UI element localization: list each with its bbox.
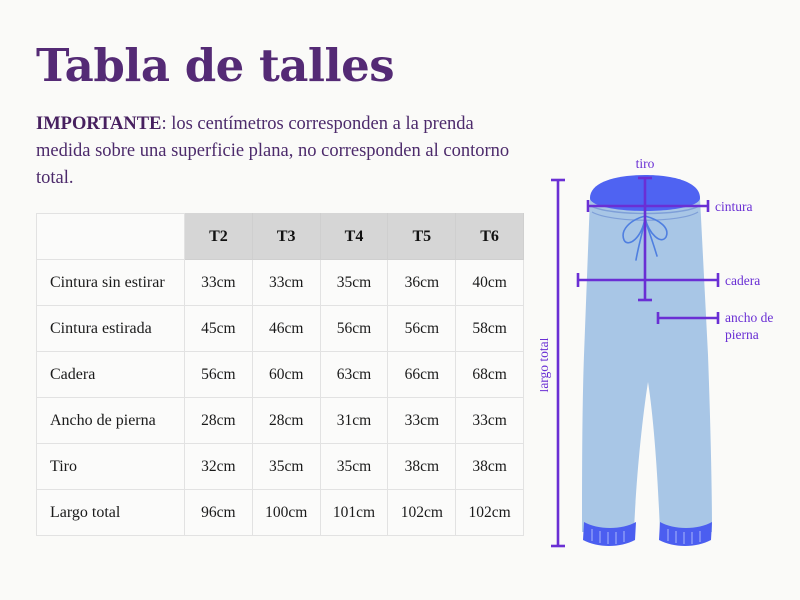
cell-cadera-t3: 60cm (252, 352, 320, 398)
cell-cintura-estirada-t4: 56cm (320, 306, 388, 352)
cell-ancho-de-pierna-t6: 33cm (456, 398, 524, 444)
label-largo-total: largo total (540, 337, 551, 392)
cell-cintura-estirada-t2: 45cm (185, 306, 253, 352)
cell-cintura-sin-estirar-t6: 40cm (456, 260, 524, 306)
important-note-keyword: IMPORTANTE (36, 114, 161, 134)
content-column: Tabla de talles IMPORTANTE: los centímet… (36, 42, 528, 536)
row-label-largo-total: Largo total (37, 490, 185, 536)
row-label-cintura-estirada: Cintura estirada (37, 306, 185, 352)
cell-ancho-de-pierna-t4: 31cm (320, 398, 388, 444)
cell-cadera-t6: 68cm (456, 352, 524, 398)
cell-cadera-t4: 63cm (320, 352, 388, 398)
label-ancho-de-pierna-line2: pierna (725, 327, 759, 342)
row-label-cintura-sin-estirar: Cintura sin estirar (37, 260, 185, 306)
label-tiro: tiro (636, 156, 655, 171)
cell-tiro-t5: 38cm (388, 444, 456, 490)
table-row: Tiro 32cm 35cm 35cm 38cm 38cm (37, 444, 524, 490)
column-header-t6: T6 (456, 214, 524, 260)
page-title: Tabla de talles (36, 42, 528, 89)
size-table: T2 T3 T4 T5 T6 Cintura sin estirar 33cm … (36, 213, 524, 536)
cell-largo-total-t6: 102cm (456, 490, 524, 536)
cell-largo-total-t2: 96cm (185, 490, 253, 536)
cell-cintura-estirada-t6: 58cm (456, 306, 524, 352)
cell-cintura-sin-estirar-t3: 33cm (252, 260, 320, 306)
pants-illustration: tiro cintura cadera ancho de pierna larg… (540, 150, 800, 580)
cell-cadera-t2: 56cm (185, 352, 253, 398)
cell-cintura-sin-estirar-t5: 36cm (388, 260, 456, 306)
size-table-body: Cintura sin estirar 33cm 33cm 35cm 36cm … (37, 260, 524, 536)
label-ancho-de-pierna-line1: ancho de (725, 310, 773, 325)
label-cintura: cintura (715, 199, 752, 214)
row-label-ancho-de-pierna: Ancho de pierna (37, 398, 185, 444)
pants-garment-shape (582, 175, 712, 546)
table-header-row: T2 T3 T4 T5 T6 (37, 214, 524, 260)
cell-largo-total-t4: 101cm (320, 490, 388, 536)
cell-tiro-t3: 35cm (252, 444, 320, 490)
cell-tiro-t4: 35cm (320, 444, 388, 490)
cell-cintura-sin-estirar-t2: 33cm (185, 260, 253, 306)
table-row: Cintura estirada 45cm 46cm 56cm 56cm 58c… (37, 306, 524, 352)
column-header-t2: T2 (185, 214, 253, 260)
column-header-t3: T3 (252, 214, 320, 260)
cell-cadera-t5: 66cm (388, 352, 456, 398)
cell-cintura-estirada-t3: 46cm (252, 306, 320, 352)
cell-largo-total-t3: 100cm (252, 490, 320, 536)
cell-ancho-de-pierna-t2: 28cm (185, 398, 253, 444)
cell-cintura-sin-estirar-t4: 35cm (320, 260, 388, 306)
row-label-cadera: Cadera (37, 352, 185, 398)
table-row: Cintura sin estirar 33cm 33cm 35cm 36cm … (37, 260, 524, 306)
important-note: IMPORTANTE: los centímetros corresponden… (36, 111, 514, 191)
column-header-t5: T5 (388, 214, 456, 260)
column-header-t4: T4 (320, 214, 388, 260)
size-table-head: T2 T3 T4 T5 T6 (37, 214, 524, 260)
cell-ancho-de-pierna-t5: 33cm (388, 398, 456, 444)
table-row: Largo total 96cm 100cm 101cm 102cm 102cm (37, 490, 524, 536)
label-cadera: cadera (725, 273, 760, 288)
cell-ancho-de-pierna-t3: 28cm (252, 398, 320, 444)
cell-tiro-t2: 32cm (185, 444, 253, 490)
size-chart-page: Tabla de talles IMPORTANTE: los centímet… (0, 0, 800, 600)
table-corner-cell (37, 214, 185, 260)
cell-cintura-estirada-t5: 56cm (388, 306, 456, 352)
cell-largo-total-t5: 102cm (388, 490, 456, 536)
row-label-tiro: Tiro (37, 444, 185, 490)
table-row: Cadera 56cm 60cm 63cm 66cm 68cm (37, 352, 524, 398)
table-row: Ancho de pierna 28cm 28cm 31cm 33cm 33cm (37, 398, 524, 444)
cell-tiro-t6: 38cm (456, 444, 524, 490)
pants-body (582, 180, 712, 532)
